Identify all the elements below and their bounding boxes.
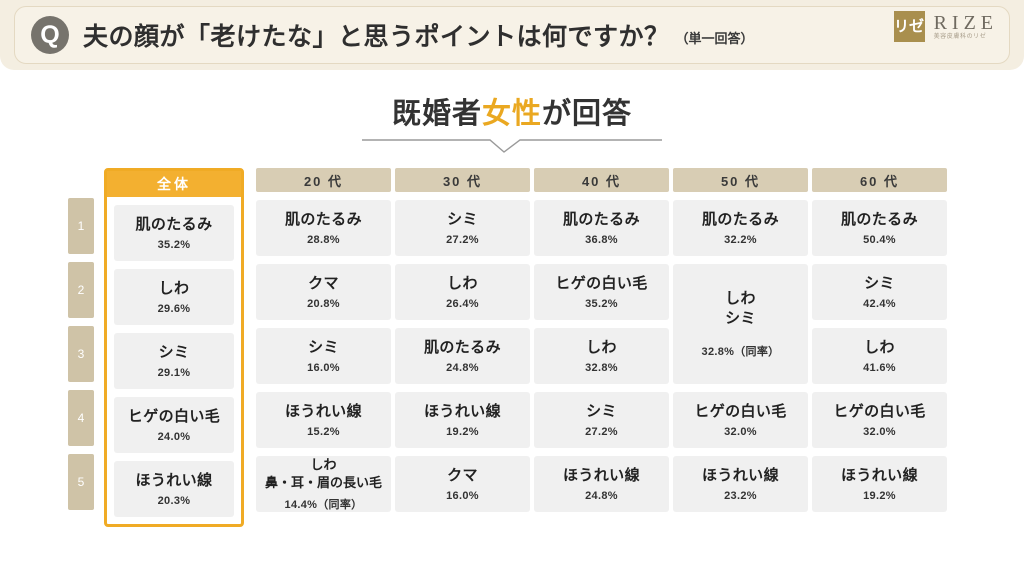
cell-label: ほうれい線	[424, 402, 501, 422]
cell-percentage: 42.4%	[863, 298, 896, 310]
ranking-cell: しわシミ32.8%（同率）	[673, 264, 808, 384]
cell-percentage: 26.4%	[446, 298, 479, 310]
column-header: 20 代	[256, 168, 391, 192]
question-bar: Q 夫の顔が「老けたな」と思うポイントは何ですか？ （単一回答）	[14, 6, 1010, 64]
cell-percentage: 28.8%	[307, 234, 340, 246]
subtitle-block: 既婚者女性が回答	[0, 96, 1024, 132]
cell-percentage: 32.0%	[863, 426, 896, 438]
cell-label: 肌のたるみ	[424, 338, 501, 358]
ranking-cell: 肌のたるみ35.2%	[114, 205, 234, 261]
rank-badge: 5	[68, 454, 94, 510]
cell-label: ヒゲの白い毛	[128, 407, 220, 427]
cell-label: しわ	[725, 289, 756, 309]
subtitle-highlight: 女性	[482, 98, 542, 130]
cell-percentage: 29.1%	[158, 367, 191, 379]
ranking-cell: ほうれい線19.2%	[812, 456, 947, 512]
cell-percentage: 19.2%	[863, 490, 896, 502]
cell-percentage: 41.6%	[863, 362, 896, 374]
cell-percentage: 35.2%	[585, 298, 618, 310]
cell-label: ほうれい線	[702, 466, 779, 486]
cell-percentage: 32.2%	[724, 234, 757, 246]
cell-label: しわ	[586, 338, 617, 358]
subtitle: 既婚者女性が回答	[392, 96, 632, 132]
cell-percentage: 16.0%	[307, 362, 340, 374]
cell-label: クマ	[308, 274, 339, 294]
ranking-cell: ほうれい線23.2%	[673, 456, 808, 512]
column-header: 40 代	[534, 168, 669, 192]
cell-label: ほうれい線	[841, 466, 918, 486]
column-header: 60 代	[812, 168, 947, 192]
ranking-cell: ほうれい線24.8%	[534, 456, 669, 512]
ranking-cell: シミ27.2%	[395, 200, 530, 256]
cell-label: ヒゲの白い毛	[555, 274, 647, 294]
rize-logo: リゼ RIZE 美容皮膚科のリゼ	[894, 11, 998, 42]
cell-percentage: 23.2%	[724, 490, 757, 502]
cell-label: ほうれい線	[563, 466, 640, 486]
cell-percentage: 32.8%（同率）	[702, 343, 780, 359]
rank-badge: 3	[68, 326, 94, 382]
cell-label: ヒゲの白い毛	[833, 402, 925, 422]
ranking-cell: シミ42.4%	[812, 264, 947, 320]
column-20代: 20 代肌のたるみ28.8%クマ20.8%シミ16.0%ほうれい線15.2%しわ…	[256, 168, 391, 512]
cell-percentage: 27.2%	[585, 426, 618, 438]
cell-label: シミ	[586, 402, 617, 422]
cell-percentage: 24.0%	[158, 431, 191, 443]
cell-percentage: 32.8%	[585, 362, 618, 374]
column-60代: 60 代肌のたるみ50.4%シミ42.4%しわ41.6%ヒゲの白い毛32.0%ほ…	[812, 168, 947, 512]
column-total: 全体肌のたるみ35.2%しわ29.6%シミ29.1%ヒゲの白い毛24.0%ほうれ…	[104, 168, 244, 527]
cell-label: ヒゲの白い毛	[694, 402, 786, 422]
cell-percentage: 35.2%	[158, 239, 191, 251]
ranking-cell: 肌のたるみ36.8%	[534, 200, 669, 256]
ranking-cell: クマ16.0%	[395, 456, 530, 512]
cell-label: ほうれい線	[285, 402, 362, 422]
ranking-cell: しわ41.6%	[812, 328, 947, 384]
cell-label: 肌のたるみ	[285, 210, 362, 230]
cell-label: 肌のたるみ	[702, 210, 779, 230]
ranking-cell: シミ27.2%	[534, 392, 669, 448]
cell-percentage: 20.8%	[307, 298, 340, 310]
ranking-cell: シミ29.1%	[114, 333, 234, 389]
cell-percentage: 36.8%	[585, 234, 618, 246]
question-text: 夫の顔が「老けたな」と思うポイントは何ですか？	[83, 17, 670, 53]
cell-label: シミ	[725, 309, 756, 329]
cell-label: しわ	[159, 279, 190, 299]
ranking-table: 12345 全体肌のたるみ35.2%しわ29.6%シミ29.1%ヒゲの白い毛24…	[68, 168, 958, 528]
cell-label: 鼻・耳・眉の長い毛	[265, 474, 382, 492]
ranking-cell: ヒゲの白い毛32.0%	[812, 392, 947, 448]
ranking-cell: しわ29.6%	[114, 269, 234, 325]
ranking-cell: しわ鼻・耳・眉の長い毛14.4%（同率）	[256, 456, 391, 512]
cell-label: シミ	[308, 338, 339, 358]
rank-badge: 4	[68, 390, 94, 446]
ranking-cell: ヒゲの白い毛35.2%	[534, 264, 669, 320]
ranking-cell: クマ20.8%	[256, 264, 391, 320]
ranking-cell: ほうれい線19.2%	[395, 392, 530, 448]
column-header: 50 代	[673, 168, 808, 192]
cell-label: シミ	[447, 210, 478, 230]
cell-percentage: 24.8%	[446, 362, 479, 374]
cell-label: クマ	[447, 466, 478, 486]
cell-label: しわ	[447, 274, 478, 294]
subtitle-prefix: 既婚者	[392, 98, 482, 130]
question-badge-icon: Q	[31, 16, 69, 54]
cell-label: しわ	[310, 456, 336, 474]
column-50代: 50 代肌のたるみ32.2%しわシミ32.8%（同率）ヒゲの白い毛32.0%ほう…	[673, 168, 808, 512]
ranking-cell: 肌のたるみ28.8%	[256, 200, 391, 256]
ranking-cell: 肌のたるみ50.4%	[812, 200, 947, 256]
ranking-cell: しわ32.8%	[534, 328, 669, 384]
cell-percentage: 16.0%	[446, 490, 479, 502]
cell-percentage: 20.3%	[158, 495, 191, 507]
cell-label: しわ	[864, 338, 895, 358]
cell-percentage: 24.8%	[585, 490, 618, 502]
ranking-cell: ヒゲの白い毛24.0%	[114, 397, 234, 453]
logo-wordmark: RIZE	[934, 12, 998, 34]
rank-badge: 1	[68, 198, 94, 254]
ranking-cell: シミ16.0%	[256, 328, 391, 384]
subtitle-suffix: が回答	[542, 98, 632, 130]
cell-label: 肌のたるみ	[135, 215, 212, 235]
cell-percentage: 29.6%	[158, 303, 191, 315]
subtitle-underline-decoration	[362, 134, 662, 154]
ranking-cell: 肌のたるみ32.2%	[673, 200, 808, 256]
cell-percentage: 14.4%（同率）	[285, 496, 363, 512]
cell-label: シミ	[864, 274, 895, 294]
logo-mark-icon: リゼ	[894, 11, 925, 42]
ranking-cell: ほうれい線20.3%	[114, 461, 234, 517]
ranking-cell: 肌のたるみ24.8%	[395, 328, 530, 384]
header-band: Q 夫の顔が「老けたな」と思うポイントは何ですか？ （単一回答） リゼ RIZE…	[0, 0, 1024, 70]
column-header: 全体	[107, 171, 241, 197]
ranking-cell: ヒゲの白い毛32.0%	[673, 392, 808, 448]
answer-type-note: （単一回答）	[676, 28, 754, 63]
cell-label: ほうれい線	[135, 471, 212, 491]
column-40代: 40 代肌のたるみ36.8%ヒゲの白い毛35.2%しわ32.8%シミ27.2%ほ…	[534, 168, 669, 512]
cell-label: 肌のたるみ	[841, 210, 918, 230]
cell-percentage: 32.0%	[724, 426, 757, 438]
rank-column: 12345	[68, 198, 94, 518]
logo-text: RIZE 美容皮膚科のリゼ	[934, 12, 998, 41]
ranking-cell: しわ26.4%	[395, 264, 530, 320]
cell-percentage: 15.2%	[307, 426, 340, 438]
logo-tagline: 美容皮膚科のリゼ	[934, 34, 987, 41]
cell-label: 肌のたるみ	[563, 210, 640, 230]
column-30代: 30 代シミ27.2%しわ26.4%肌のたるみ24.8%ほうれい線19.2%クマ…	[395, 168, 530, 512]
cell-percentage: 19.2%	[446, 426, 479, 438]
column-header: 30 代	[395, 168, 530, 192]
cell-label: シミ	[159, 343, 190, 363]
infographic-page: Q 夫の顔が「老けたな」と思うポイントは何ですか？ （単一回答） リゼ RIZE…	[0, 0, 1024, 577]
cell-percentage: 50.4%	[863, 234, 896, 246]
cell-percentage: 27.2%	[446, 234, 479, 246]
ranking-cell: ほうれい線15.2%	[256, 392, 391, 448]
rank-badge: 2	[68, 262, 94, 318]
